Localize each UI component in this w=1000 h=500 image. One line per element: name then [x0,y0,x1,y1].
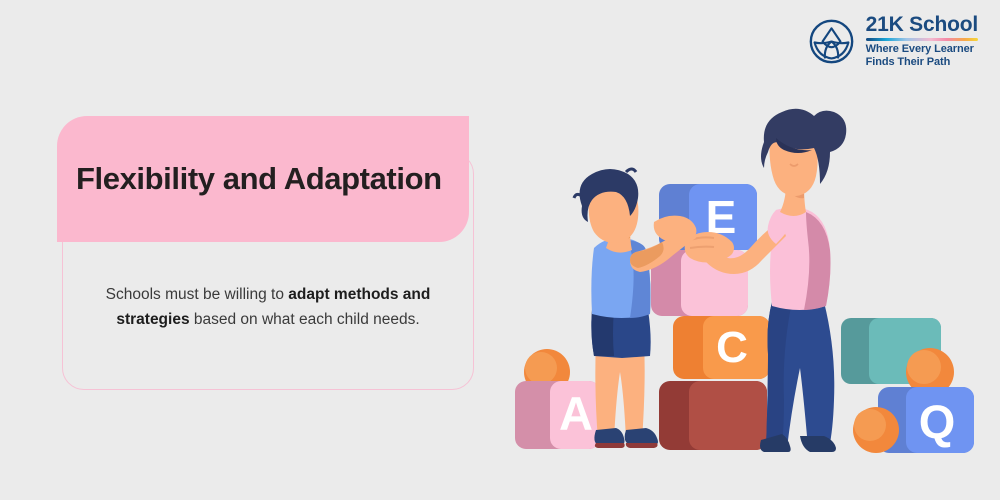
block-a: A [515,349,600,449]
brand-logo: 21K School Where Every Learner Finds The… [808,14,978,70]
svg-text:A: A [559,387,593,440]
brand-tagline: Where Every Learner Finds Their Path [866,43,978,70]
illustration-woman-and-child-blocks: A C E [500,100,1000,500]
lotus-circle-emblem-icon [808,18,855,65]
card-body-text: Schools must be willing to adapt methods… [62,282,474,332]
brand-tagline-line1: Where Every Learner [866,43,974,55]
title-banner: Flexibility and Adaptation [57,116,469,242]
body-text-part1: Schools must be willing to [106,286,289,303]
brand-tagline-line2: Finds Their Path [866,56,951,68]
brand-name: 21K School [866,14,978,36]
block-c: C [673,316,770,379]
svg-text:Q: Q [919,395,956,448]
block-darkred [659,381,767,450]
svg-text:C: C [716,323,748,372]
page-title: Flexibility and Adaptation [57,162,442,196]
brand-gradient-rule [866,38,978,41]
body-text-part2: based on what each child needs. [190,311,420,328]
